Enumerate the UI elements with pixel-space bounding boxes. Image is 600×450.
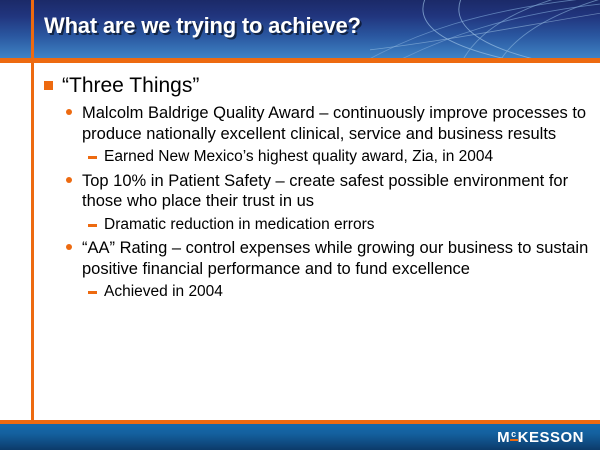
slide-header: What are we trying to achieve? xyxy=(0,0,600,58)
list-item: Achieved in 2004 xyxy=(0,282,600,302)
footer-divider xyxy=(0,420,600,424)
list-item-label: Top 10% in Patient Safety – create safes… xyxy=(82,171,600,212)
slide-body: “Three Things” Malcolm Baldrige Quality … xyxy=(0,63,600,418)
logo-text-secondary: KESSON xyxy=(518,429,584,446)
square-bullet-icon xyxy=(44,81,53,90)
list-item-label: Earned New Mexico’s highest quality awar… xyxy=(104,147,600,167)
page-title: What are we trying to achieve? xyxy=(44,13,361,39)
slide: What are we trying to achieve? “Three Th… xyxy=(0,0,600,450)
round-bullet-icon xyxy=(66,177,72,183)
list-item-label: “Three Things” xyxy=(62,73,600,99)
mckesson-logo: McKESSON xyxy=(497,429,584,446)
list-item: “AA” Rating – control expenses while gro… xyxy=(0,238,600,279)
list-item: Top 10% in Patient Safety – create safes… xyxy=(0,171,600,212)
dash-bullet-icon xyxy=(88,224,97,227)
slide-footer: McKESSON xyxy=(0,424,600,450)
vertical-accent-line xyxy=(31,0,34,423)
round-bullet-icon xyxy=(66,109,72,115)
logo-superscript-c: c xyxy=(510,429,518,439)
list-item: Earned New Mexico’s highest quality awar… xyxy=(0,147,600,167)
list-item: “Three Things” xyxy=(0,73,600,99)
list-item: Malcolm Baldrige Quality Award – continu… xyxy=(0,103,600,144)
logo-text-primary: M xyxy=(497,429,510,446)
list-item-label: “AA” Rating – control expenses while gro… xyxy=(82,238,600,279)
header-arc-decoration xyxy=(370,0,600,58)
list-item-label: Dramatic reduction in medication errors xyxy=(104,215,600,235)
list-item: Dramatic reduction in medication errors xyxy=(0,215,600,235)
dash-bullet-icon xyxy=(88,291,97,294)
list-item-label: Achieved in 2004 xyxy=(104,282,600,302)
round-bullet-icon xyxy=(66,244,72,250)
list-item-label: Malcolm Baldrige Quality Award – continu… xyxy=(82,103,600,144)
dash-bullet-icon xyxy=(88,156,97,159)
